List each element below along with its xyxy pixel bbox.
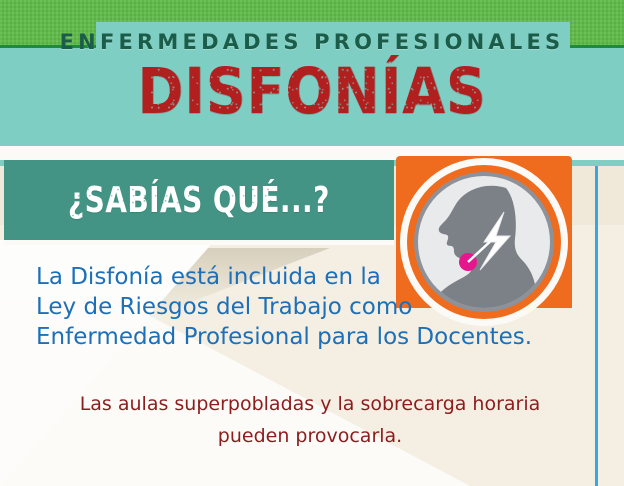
footer-line-1: Las aulas superpobladas y la sobrecarga … xyxy=(30,388,590,420)
sabias-que-label: ¿SABÍAS QUÉ...? xyxy=(68,180,330,221)
infographic-poster: ENFERMEDADES PROFESIONALES DISFONÍAS ¿SA… xyxy=(0,0,624,486)
body-line-2: Ley de Riesgos del Trabajo como xyxy=(36,292,556,322)
banner-underline xyxy=(4,240,394,245)
page-title: DISFONÍAS xyxy=(37,58,586,126)
sabias-que-banner: ¿SABÍAS QUÉ...? xyxy=(4,160,394,240)
body-paragraph: La Disfonía está incluida en la Ley de R… xyxy=(36,262,556,352)
body-line-3: Enfermedad Profesional para los Docentes… xyxy=(36,322,556,352)
body-line-1: La Disfonía está incluida en la xyxy=(36,262,556,292)
kicker-text: ENFERMEDADES PROFESIONALES xyxy=(0,30,624,54)
footer-paragraph: Las aulas superpobladas y la sobrecarga … xyxy=(30,388,590,452)
footer-line-2: pueden provocarla. xyxy=(30,420,590,452)
